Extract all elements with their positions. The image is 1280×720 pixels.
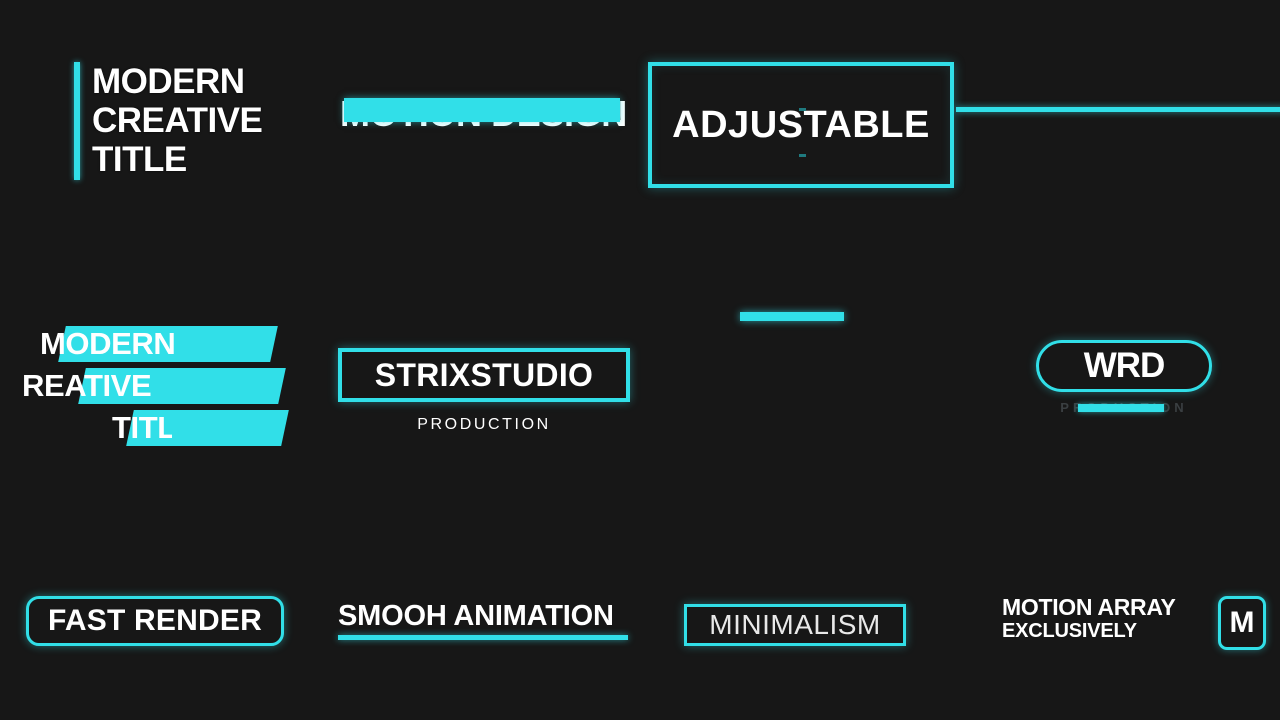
slanted-line-2: CREATIVE xyxy=(22,368,222,404)
preset-fast-render[interactable]: FAST RENDER xyxy=(26,596,284,646)
minimalism-text: MINIMALISM xyxy=(709,609,880,641)
slanted-line-3: TITLE xyxy=(112,410,172,446)
wrd-subtitle-wipe-bar xyxy=(1078,404,1164,412)
preset-standalone-wipe-bar[interactable] xyxy=(740,312,844,321)
strixstudio-box: STRIXSTUDIO xyxy=(338,348,630,402)
preset-modern-creative-title[interactable]: MODERN CREATIVE TITLE xyxy=(74,62,262,180)
titles-preview-stage: MODERN CREATIVE TITLE MOTION DESIGN ADJU… xyxy=(0,0,1280,720)
wrd-pill: WRD xyxy=(1036,340,1212,392)
fast-render-pill: FAST RENDER xyxy=(26,596,284,646)
title-line-1: MODERN xyxy=(92,62,262,101)
smooh-animation-underline xyxy=(338,635,628,640)
motion-array-line-1: MOTION ARRAY xyxy=(1002,596,1176,619)
reveal-wipe-bar xyxy=(344,98,620,122)
title-lines: MODERN CREATIVE TITLE xyxy=(92,62,262,180)
accent-bar xyxy=(74,62,80,180)
preset-adjustable[interactable]: ADJUSTABLE xyxy=(648,62,954,188)
motion-array-badge: M xyxy=(1218,596,1266,650)
fast-render-text: FAST RENDER xyxy=(48,604,262,638)
motion-array-line-2: EXCLUSIVELY xyxy=(1002,621,1176,641)
preset-motion-array[interactable]: MOTION ARRAY EXCLUSIVELY M xyxy=(1002,596,1176,641)
slanted-line-1: MODERN xyxy=(40,326,220,362)
tick-mark-bottom-icon xyxy=(799,154,806,157)
preset-wrd-logo[interactable]: WRD PRODUCTION xyxy=(1036,340,1212,416)
motion-array-badge-letter: M xyxy=(1230,606,1255,640)
preset-minimalism[interactable]: MINIMALISM xyxy=(684,604,906,646)
title-line-2: CREATIVE xyxy=(92,101,262,140)
minimalism-box: MINIMALISM xyxy=(684,604,906,646)
title-line-3: TITLE xyxy=(92,140,262,179)
adjustable-lead-line xyxy=(956,107,1280,112)
wrd-subtitle-wrap: PRODUCTION xyxy=(1036,400,1212,416)
tick-mark-top-icon xyxy=(799,108,806,111)
preset-motion-design[interactable]: MOTION DESIGN xyxy=(340,96,627,132)
smooh-animation-text: SMOOH ANIMATION xyxy=(338,602,628,631)
preset-smooh-animation[interactable]: SMOOH ANIMATION xyxy=(338,602,628,640)
wrd-title: WRD xyxy=(1084,346,1165,386)
strixstudio-subtitle: PRODUCTION xyxy=(338,416,630,434)
strixstudio-title: STRIXSTUDIO xyxy=(375,357,593,394)
adjustable-box: ADJUSTABLE xyxy=(648,62,954,188)
preset-strixstudio[interactable]: STRIXSTUDIO PRODUCTION xyxy=(338,348,630,434)
